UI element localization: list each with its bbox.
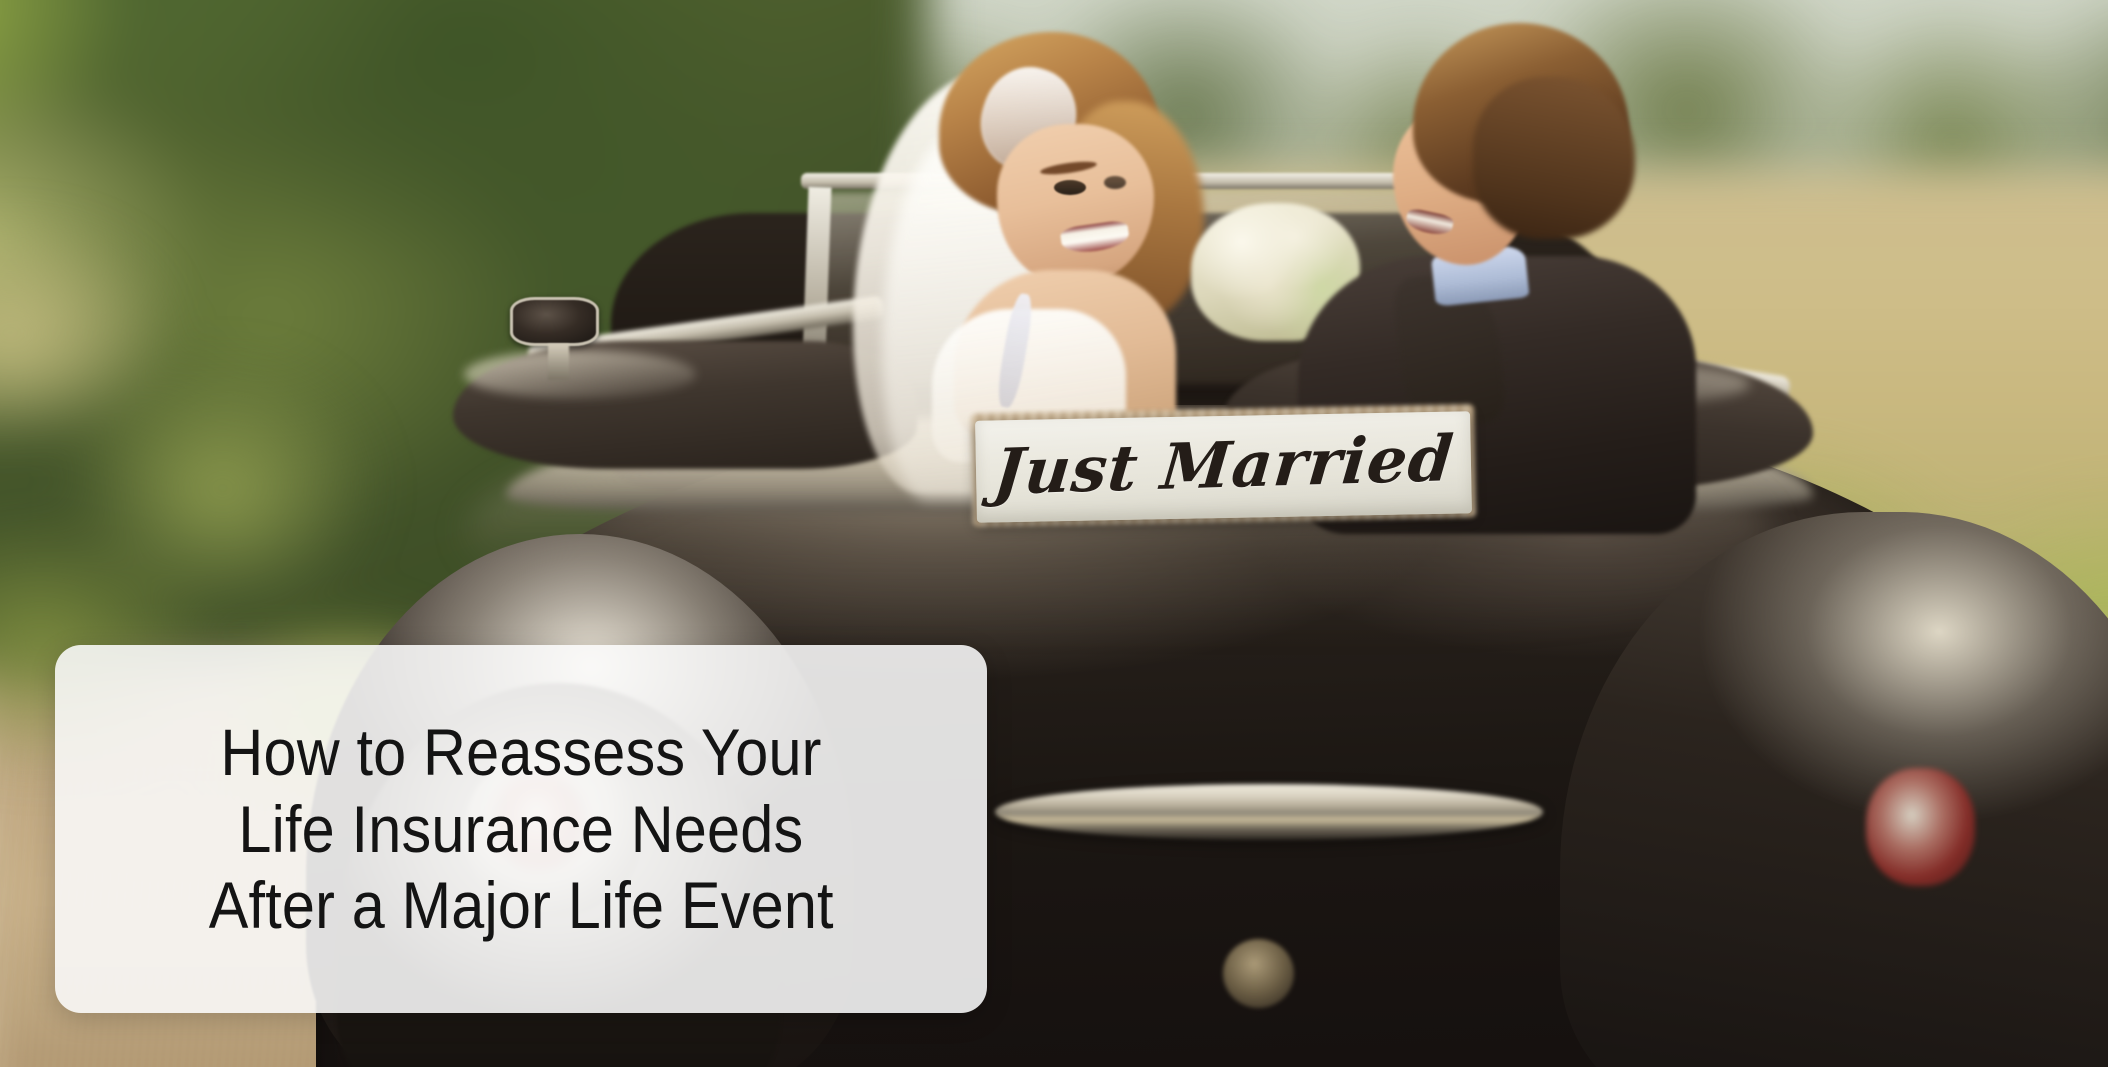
groom-hair-back [1473,77,1635,238]
left-side-mirror [510,297,599,346]
banner-image: Just Married How to Reassess Your Life I… [0,0,2108,1067]
left-mirror-stem [548,344,569,380]
groom-figure [1339,23,1676,471]
chrome-trunk-cap [1223,939,1295,1008]
bride-eye-far [1104,176,1126,189]
title-line-1: How to Reassess Your [220,714,821,791]
title-line-2: Life Insurance Needs [239,791,804,868]
sign-text: Just Married [991,427,1457,508]
title-line-3: After a Major Life Event [208,867,833,944]
title-text-block: How to Reassess Your Life Insurance Need… [174,714,868,944]
right-taillight [1866,768,1976,885]
sign-face: Just Married [975,411,1472,523]
folded-top-left-highlight [464,350,696,399]
title-card: How to Reassess Your Life Insurance Need… [55,645,987,1013]
just-married-sign: Just Married [975,411,1472,523]
chrome-trunk-handle [995,784,1543,839]
bride-figure [875,32,1233,416]
